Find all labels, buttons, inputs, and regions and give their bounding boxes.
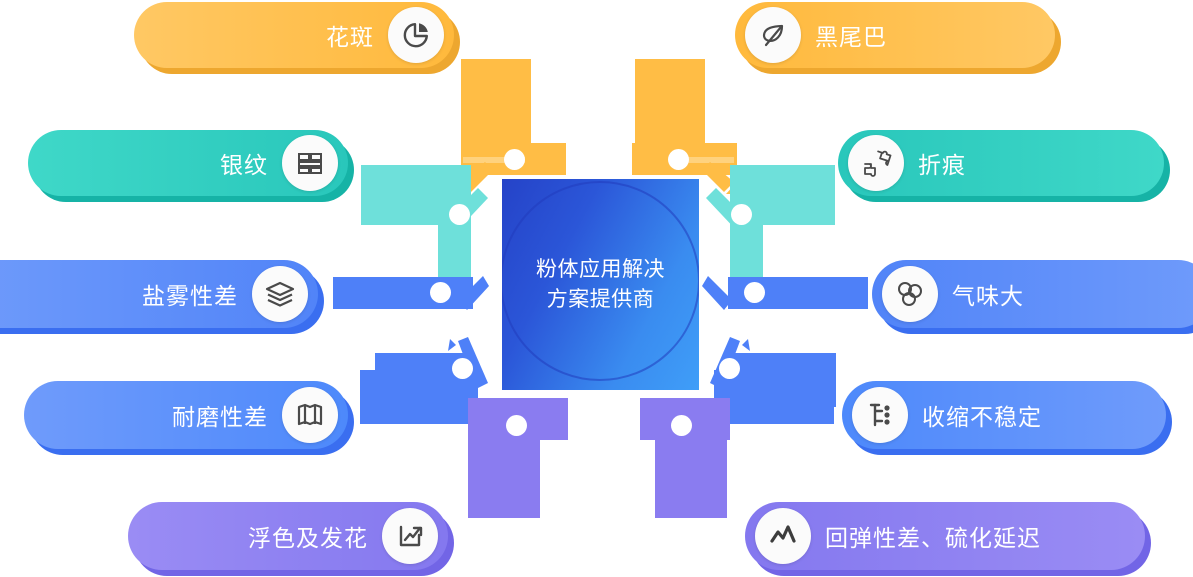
node-label: 盐雾性差 [142,277,238,311]
node-label: 收缩不稳定 [922,398,1042,432]
node-label: 黑尾巴 [815,18,887,52]
layers-icon [252,266,308,322]
node-zhehen[interactable]: 折痕 [838,130,1164,196]
node-heiweiba[interactable]: 黑尾巴 [735,2,1055,68]
connector-dot [744,282,765,303]
recycle-icon [882,266,938,322]
connector-dot [430,282,451,303]
node-label: 回弹性差、硫化延迟 [825,519,1041,553]
pie-chart-icon [388,7,444,63]
node-shousuobuwending[interactable]: 收缩不稳定 [842,381,1166,449]
connector-dot [719,358,740,379]
node-qiweida[interactable]: 气味大 [872,260,1193,328]
activity-line-icon [755,508,811,564]
arrow-glyph [455,272,489,314]
connector-dot [504,149,525,170]
node-label: 耐磨性差 [172,398,268,432]
node-label: 银纹 [220,146,268,180]
node-label: 折痕 [918,146,966,180]
map-icon [282,387,338,443]
connector-dot [668,149,689,170]
node-label: 浮色及发花 [248,519,368,553]
node-huitanxingcha[interactable]: 回弹性差、硫化延迟 [745,502,1145,570]
center-label: 粉体应用解决 方案提供商 [502,255,699,315]
node-huaban[interactable]: 花斑 [134,2,454,68]
leaf-icon [745,7,801,63]
node-label: 气味大 [952,277,1024,311]
node-yinwen[interactable]: 银纹 [28,130,348,196]
connector-dot [449,204,470,225]
connector-dot [731,204,752,225]
trending-up-icon [382,508,438,564]
connector-dot [506,415,527,436]
node-naimoxingcha[interactable]: 耐磨性差 [24,381,348,449]
infographic-canvas: 粉体应用解决 方案提供商 花斑 黑尾巴 [0,0,1193,577]
sitemap-icon [852,387,908,443]
center-node: 粉体应用解决 方案提供商 [502,179,699,390]
node-yanwuxingcha[interactable]: 盐雾性差 [0,260,318,328]
node-label: 花斑 [326,18,374,52]
brick-wall-icon [282,135,338,191]
puzzle-piece-icon [848,135,904,191]
arrow-glyph [702,272,736,314]
node-fusejifahua[interactable]: 浮色及发花 [128,502,448,570]
connector-dot [671,415,692,436]
connector-dot [452,358,473,379]
